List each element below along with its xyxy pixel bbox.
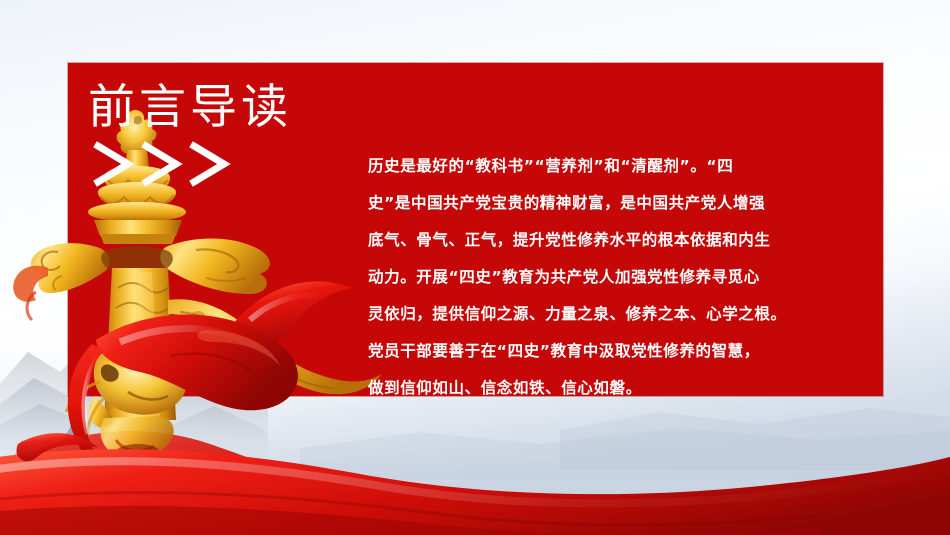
body-line: 党员干部要善于在“四史”教育中汲取党性修养的智慧，: [368, 333, 868, 370]
body-line: 底气、骨气、正气，提升党性修养水平的根本依据和内生: [368, 222, 868, 259]
body-line: 灵依归，提供信仰之源、力量之泉、修养之本、心学之根。: [368, 296, 868, 333]
body-line: 动力。开展“四史”教育为共产党人加强党性修养寻觅心: [368, 259, 868, 296]
preface-body-text: 历史是最好的“教科书”“营养剂”和“清醒剂”。“四 史”是中国共产党宝贵的精神财…: [368, 148, 868, 407]
body-line: 做到信仰如山、信念如铁、信心如磐。: [368, 370, 868, 407]
body-line: 史”是中国共产党宝贵的精神财富，是中国共产党人增强: [368, 185, 868, 222]
slide-canvas: 前言导读 历史是最好的“教科书”“营养剂”和“清醒剂”。“四 史”是中国共产党宝…: [0, 0, 950, 535]
body-line: 历史是最好的“教科书”“营养剂”和“清醒剂”。“四: [368, 148, 868, 185]
